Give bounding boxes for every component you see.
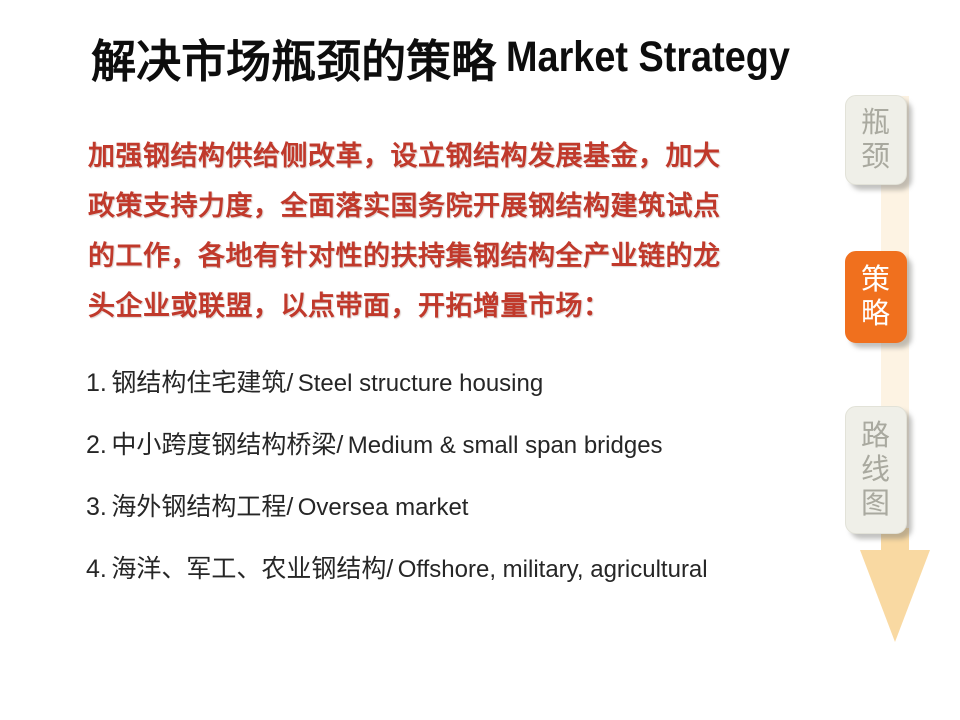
list-item-chinese: 海外钢结构工程 xyxy=(111,493,286,521)
list-item-separator: / xyxy=(286,369,293,397)
list-item-chinese: 钢结构住宅建筑 xyxy=(111,369,286,397)
list-item: 2. 中小跨度钢结构桥梁/ Medium & small span bridge… xyxy=(86,425,826,487)
list-item-english: Medium & small span bridges xyxy=(348,432,663,459)
list-item-english: Steel structure housing xyxy=(298,370,543,397)
down-arrow-icon xyxy=(860,550,930,642)
list-item: 3. 海外钢结构工程/ Oversea market xyxy=(86,487,826,549)
list-item-chinese: 海洋、军工、农业钢结构 xyxy=(111,555,386,583)
nav-item-strategy-char: 略 xyxy=(861,297,891,331)
list-item-separator: / xyxy=(386,555,393,583)
nav-item-roadmap-char: 路 xyxy=(861,419,891,453)
lead-paragraph-line: 头企业或联盟，以点带面，开拓增量市场： xyxy=(88,281,808,331)
nav-item-strategy-char: 策 xyxy=(861,263,891,297)
nav-item-bottleneck[interactable]: 瓶 颈 xyxy=(845,95,907,185)
list-item-number: 1. xyxy=(86,369,107,397)
nav-item-roadmap[interactable]: 路 线 图 xyxy=(845,406,907,534)
list-item-separator: / xyxy=(286,493,293,521)
nav-item-roadmap-char: 线 xyxy=(861,453,891,487)
list-item-number: 3. xyxy=(86,493,107,521)
list-item-chinese: 中小跨度钢结构桥梁 xyxy=(111,431,336,459)
list-item-number: 2. xyxy=(86,431,107,459)
lead-paragraph-line: 加强钢结构供给侧改革，设立钢结构发展基金，加大 xyxy=(88,131,808,181)
nav-item-strategy[interactable]: 策 略 xyxy=(845,251,907,343)
strategy-list: 1. 钢结构住宅建筑/ Steel structure housing 2. 中… xyxy=(86,363,826,611)
lead-paragraph-line: 政策支持力度，全面落实国务院开展钢结构建筑试点 xyxy=(88,181,808,231)
nav-item-bottleneck-char: 颈 xyxy=(861,140,891,174)
nav-item-roadmap-char: 图 xyxy=(861,487,891,521)
presentation-slide: 解决市场瓶颈的策略 Market Strategy 加强钢结构供给侧改革，设立钢… xyxy=(0,0,960,720)
list-item-english: Offshore, military, agricultural xyxy=(398,556,708,583)
list-item-separator: / xyxy=(336,431,343,459)
lead-paragraph: 加强钢结构供给侧改革，设立钢结构发展基金，加大 政策支持力度，全面落实国务院开展… xyxy=(88,131,808,331)
section-nav-rail: 瓶 颈 策 略 路 线 图 xyxy=(836,88,960,673)
page-title: 解决市场瓶颈的策略 Market Strategy xyxy=(60,24,860,90)
page-title-english: Market Strategy xyxy=(506,33,790,82)
list-item: 1. 钢结构住宅建筑/ Steel structure housing xyxy=(86,363,826,425)
list-item-number: 4. xyxy=(86,555,107,583)
lead-paragraph-line: 的工作，各地有针对性的扶持集钢结构全产业链的龙 xyxy=(88,231,808,281)
page-title-chinese: 解决市场瓶颈的策略 xyxy=(91,25,496,90)
list-item: 4. 海洋、军工、农业钢结构/ Offshore, military, agri… xyxy=(86,549,826,611)
list-item-english: Oversea market xyxy=(298,494,469,521)
nav-item-bottleneck-char: 瓶 xyxy=(861,106,891,140)
